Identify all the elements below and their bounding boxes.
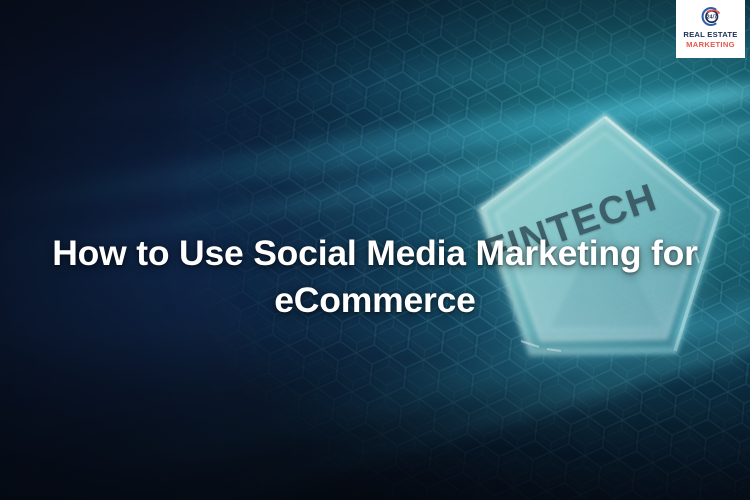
hero-banner: FINTECH How to Use Social Media Marketin… <box>0 0 750 500</box>
brand-logo[interactable]: 24/7 REAL ESTATE MARKETING <box>676 0 745 58</box>
svg-text:24/7: 24/7 <box>707 15 717 21</box>
circle-c-monogram-icon: 24/7 <box>699 5 722 28</box>
brand-name-secondary: MARKETING <box>686 41 735 49</box>
page-title: How to Use Social Media Marketing for eC… <box>0 230 750 324</box>
brand-name-primary: REAL ESTATE <box>683 31 737 39</box>
